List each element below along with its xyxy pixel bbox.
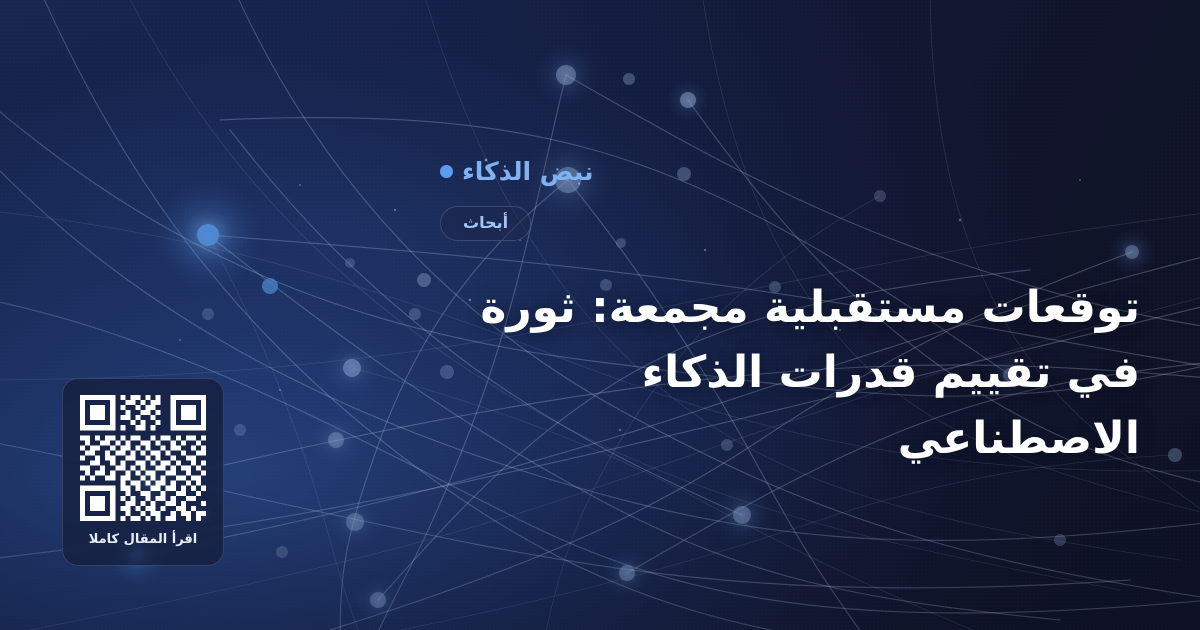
qr-code-icon xyxy=(80,395,206,521)
og-image-card: اقرأ المقال كاملا نبض الذكاء أبحاث توقعا… xyxy=(0,0,1200,630)
brand[interactable]: نبض الذكاء xyxy=(440,159,594,184)
category-badge[interactable]: أبحاث xyxy=(440,206,531,241)
content-column: نبض الذكاء أبحاث توقعات مستقبلية مجمعة: … xyxy=(440,0,1200,630)
brand-name: نبض الذكاء xyxy=(462,159,594,184)
qr-card[interactable]: اقرأ المقال كاملا xyxy=(62,378,224,566)
page-title: توقعات مستقبلية مجمعة: ثورة في تقييم قدر… xyxy=(440,275,1140,470)
brand-dot-icon xyxy=(440,165,453,178)
qr-card-caption: اقرأ المقال كاملا xyxy=(89,533,198,546)
